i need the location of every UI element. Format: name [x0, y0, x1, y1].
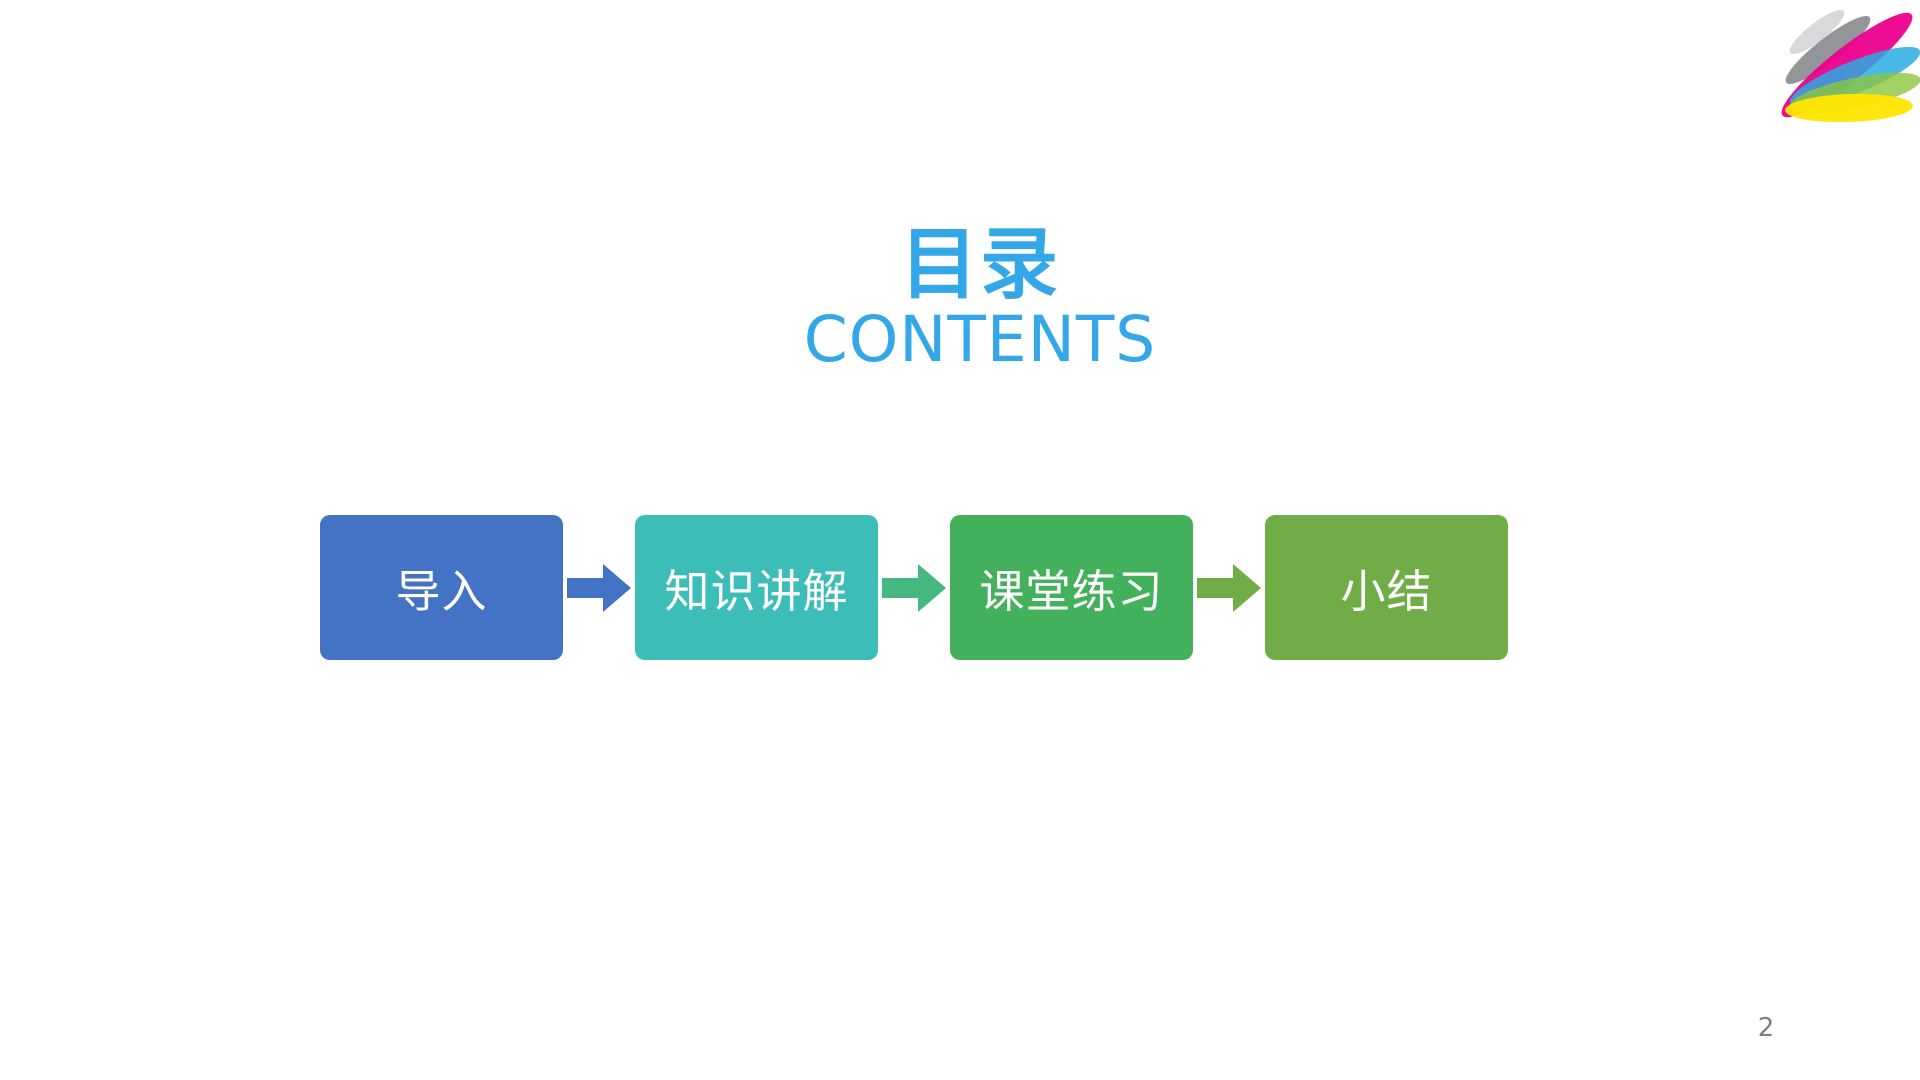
- flow-arrow-2: [878, 552, 950, 624]
- title-english: CONTENTS: [40, 308, 1920, 371]
- page-number: 2: [1746, 1013, 1786, 1043]
- title-chinese: 目录: [40, 228, 1920, 302]
- arrow-right-icon: [1197, 564, 1261, 612]
- page-title: 目录 CONTENTS: [0, 228, 1920, 371]
- arrow-right-icon: [882, 564, 946, 612]
- flow-step-3-label: 课堂练习: [979, 555, 1163, 620]
- flow-step-4[interactable]: 小结: [1265, 515, 1508, 660]
- contents-flow: 导入 知识讲解 课堂练习 小结: [320, 515, 1600, 660]
- flow-step-1[interactable]: 导入: [320, 515, 563, 660]
- flow-step-2[interactable]: 知识讲解: [635, 515, 878, 660]
- flow-step-3[interactable]: 课堂练习: [950, 515, 1193, 660]
- flow-step-2-label: 知识讲解: [664, 555, 848, 620]
- flow-step-4-label: 小结: [1340, 555, 1432, 620]
- flow-step-1-label: 导入: [395, 555, 487, 620]
- flow-arrow-1: [563, 552, 635, 624]
- brand-logo: [1752, 0, 1920, 180]
- flow-arrow-3: [1193, 552, 1265, 624]
- arrow-right-icon: [567, 564, 631, 612]
